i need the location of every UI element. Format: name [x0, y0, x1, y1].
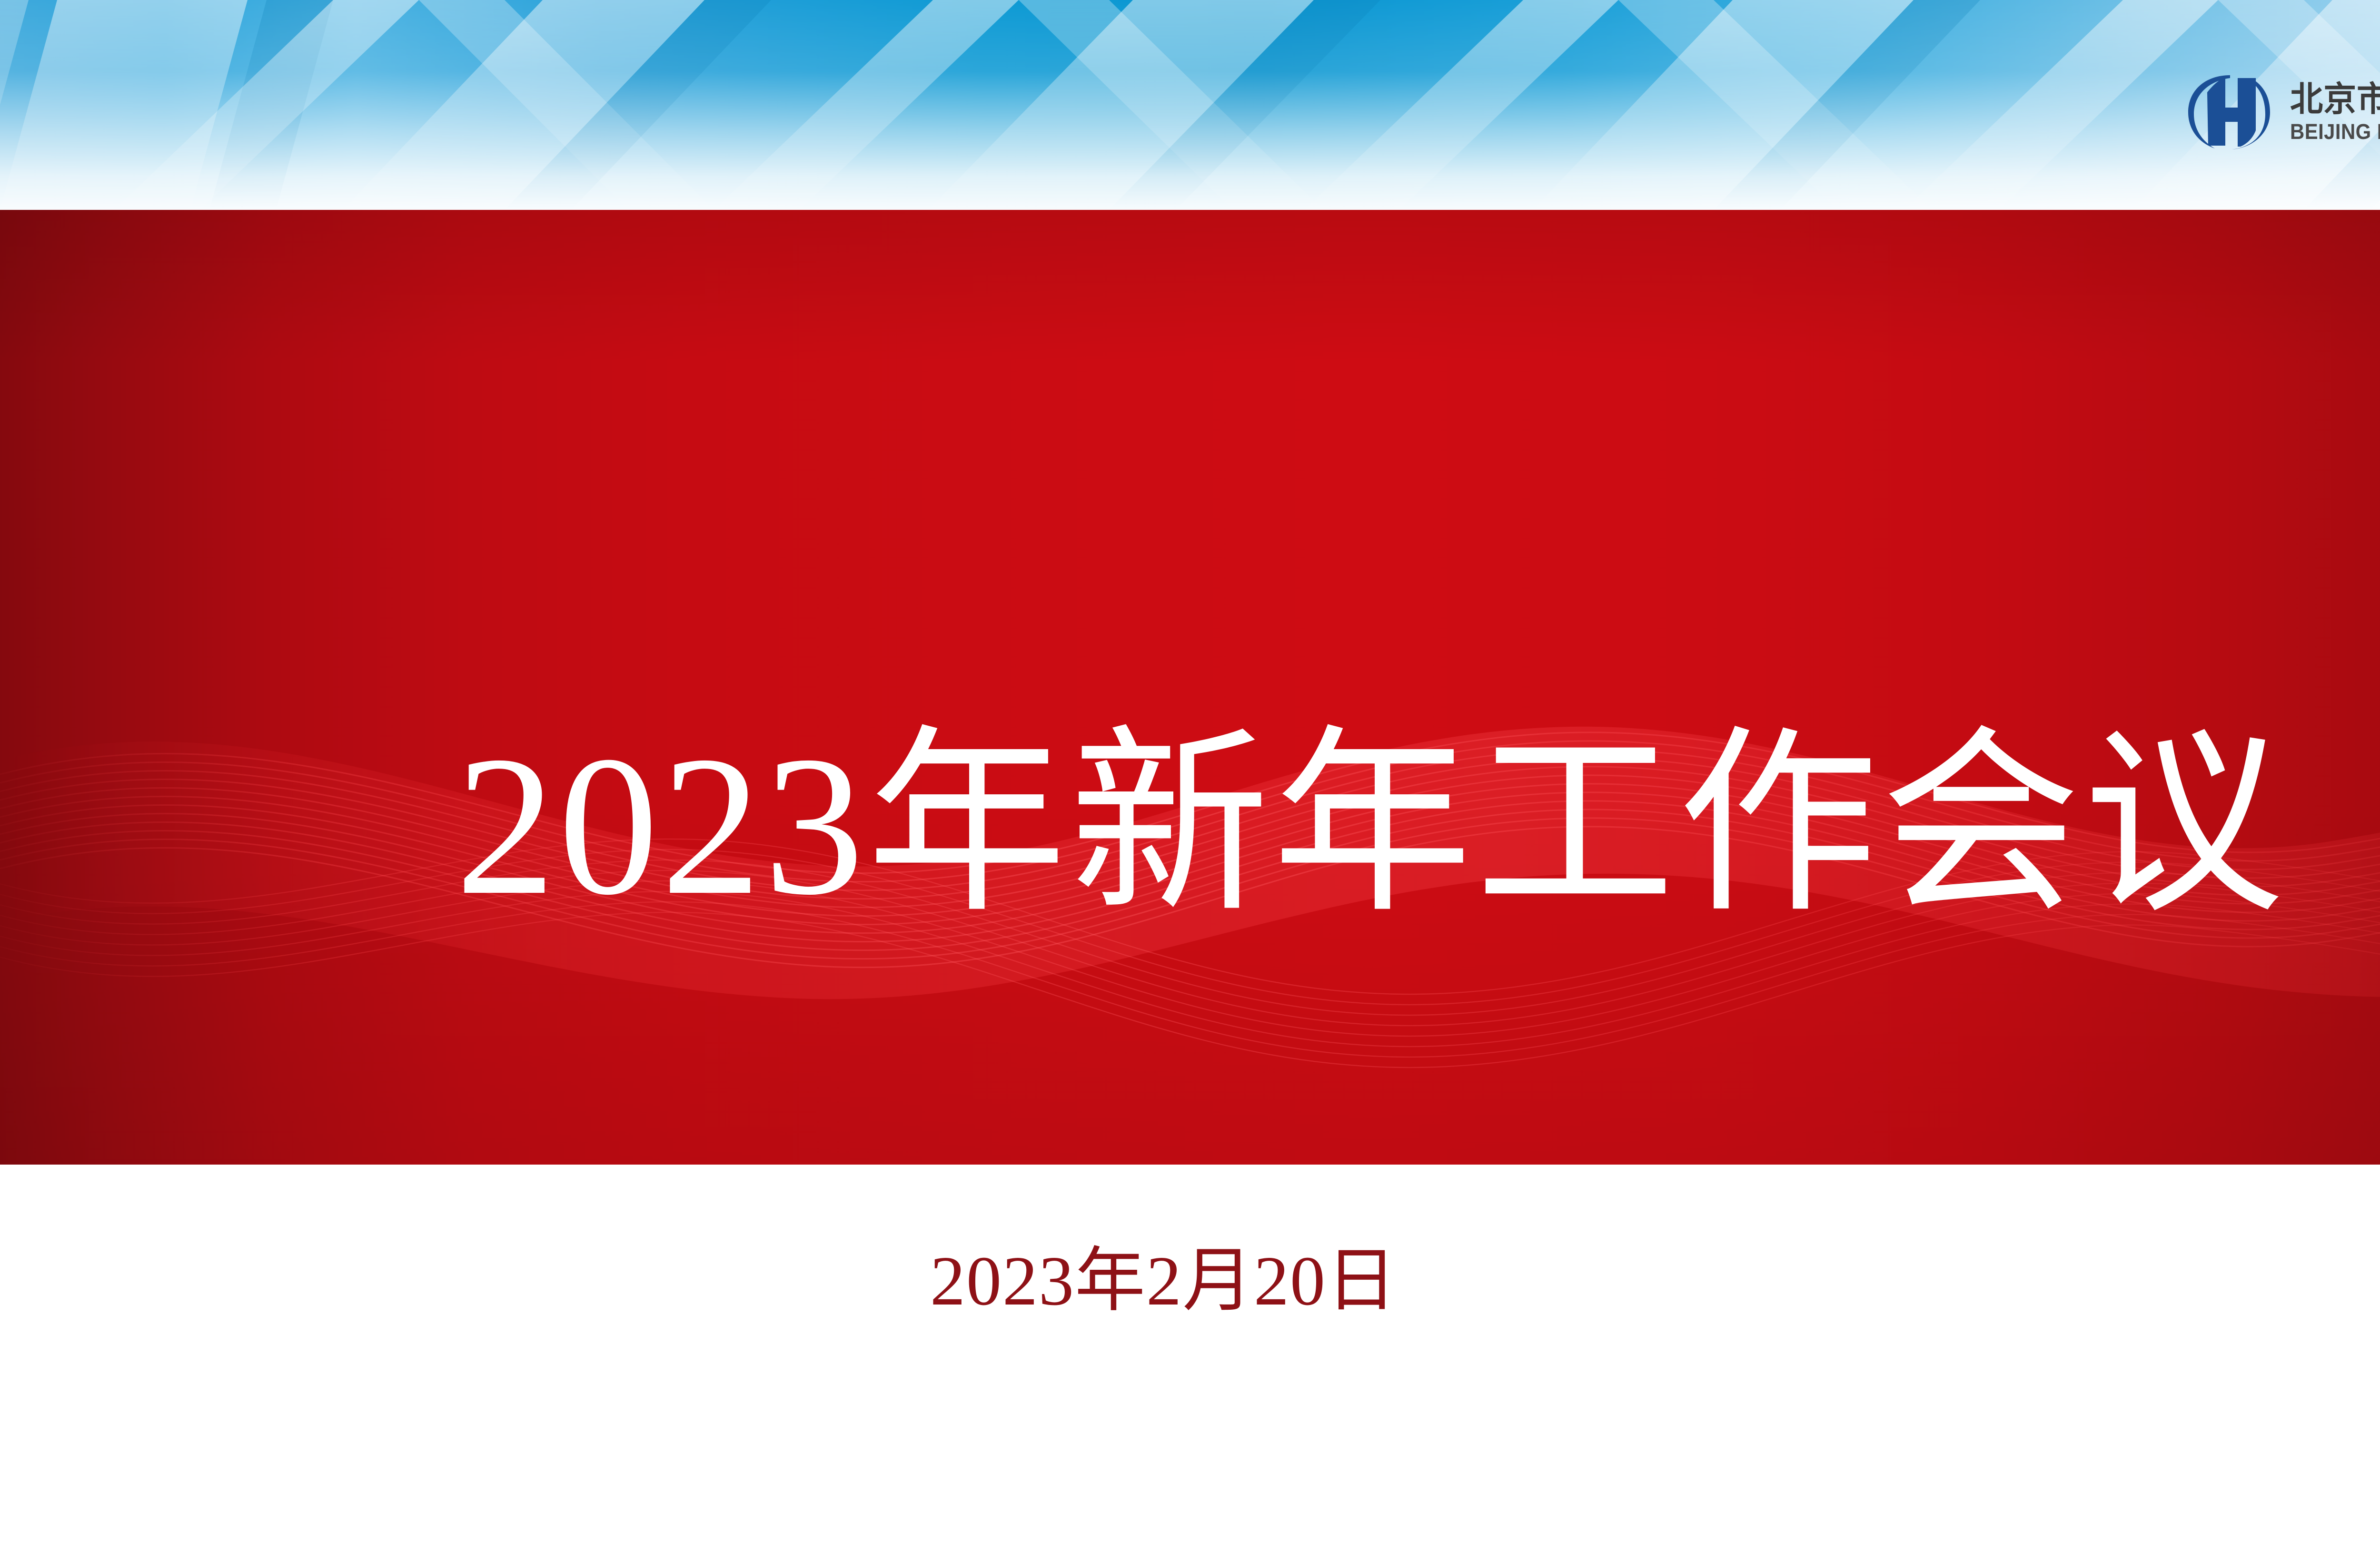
company-name-cn: 北京市合力电信有限公司: [2290, 82, 2380, 117]
banner-diagonal-stripes-decoration: [0, 0, 2380, 210]
slide-date: 2023年2月20日: [0, 1246, 2380, 1316]
company-name-block: 北京市合力电信有限公司 BEIJING HOLY TELECOM Co., LT…: [2290, 82, 2380, 142]
company-name-en: BEIJING HOLY TELECOM Co., LTD.: [2290, 121, 2380, 142]
header-banner: 北京市合力电信有限公司 BEIJING HOLY TELECOM Co., LT…: [0, 0, 2380, 210]
presentation-slide: 北京市合力电信有限公司 BEIJING HOLY TELECOM Co., LT…: [0, 0, 2380, 1542]
slide-title: 2023年新年工作会议: [0, 726, 2380, 926]
red-title-band: 2023年新年工作会议: [0, 210, 2380, 1165]
holy-telecom-h-monogram-icon: [2184, 71, 2278, 153]
company-logo: 北京市合力电信有限公司 BEIJING HOLY TELECOM Co., LT…: [2184, 71, 2380, 153]
